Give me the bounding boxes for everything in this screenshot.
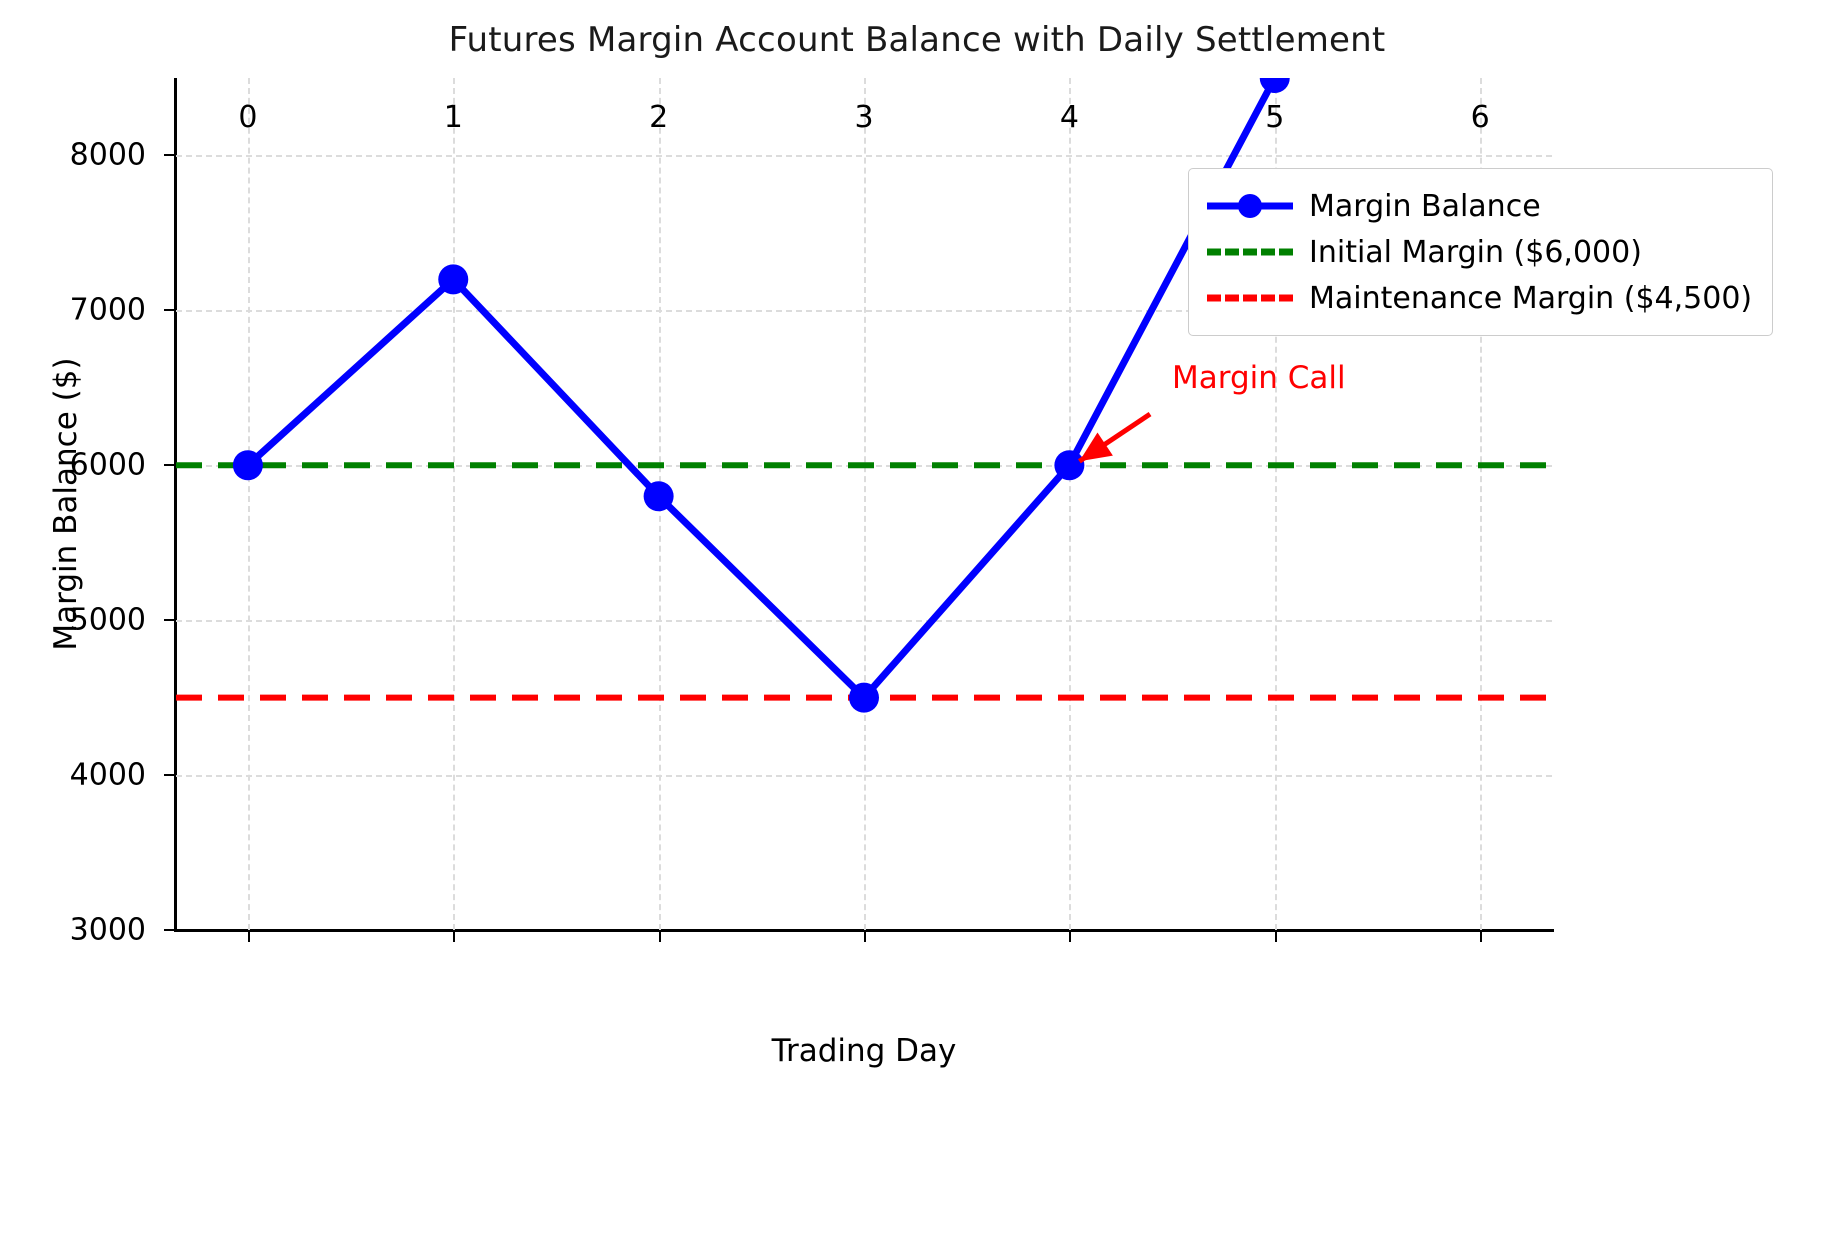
- y-tick-label: 4000: [70, 758, 146, 793]
- y-tick-mark: [164, 929, 176, 931]
- chart-legend: Margin Balance Initial Margin ($6,000) M…: [1188, 168, 1773, 336]
- legend-key-initial-margin: [1207, 237, 1293, 267]
- x-tick-mark: [1275, 930, 1277, 942]
- y-tick-label: 7000: [70, 293, 146, 328]
- plot-area: 300040005000600070008000 0123456 Margin …: [176, 78, 1552, 930]
- x-tick-mark: [1480, 930, 1482, 942]
- legend-label-margin-balance: Margin Balance: [1309, 189, 1541, 224]
- data-point-marker[interactable]: [438, 264, 468, 294]
- legend-label-initial-margin: Initial Margin ($6,000): [1309, 235, 1642, 270]
- y-tick-mark: [164, 619, 176, 621]
- y-tick-mark: [164, 309, 176, 311]
- chart-title: Futures Margin Account Balance with Dail…: [0, 20, 1834, 60]
- y-tick-mark: [164, 154, 176, 156]
- y-tick-mark: [164, 464, 176, 466]
- data-point-marker[interactable]: [644, 481, 674, 511]
- legend-item-margin-balance[interactable]: Margin Balance: [1207, 183, 1752, 229]
- x-tick-mark: [1069, 930, 1071, 942]
- x-tick-mark: [659, 930, 661, 942]
- series-line-margin-balance: [248, 78, 1275, 698]
- legend-item-maintenance-margin[interactable]: Maintenance Margin ($4,500): [1207, 275, 1752, 321]
- margin-call-annotation: Margin Call: [1172, 360, 1346, 396]
- y-tick-mark: [164, 774, 176, 776]
- data-point-marker[interactable]: [233, 450, 263, 480]
- data-point-marker[interactable]: [1054, 450, 1084, 480]
- data-point-marker[interactable]: [1260, 63, 1290, 93]
- x-tick-mark: [453, 930, 455, 942]
- x-tick-mark: [864, 930, 866, 942]
- chart-figure: Futures Margin Account Balance with Dail…: [0, 0, 1834, 1234]
- legend-item-initial-margin[interactable]: Initial Margin ($6,000): [1207, 229, 1752, 275]
- x-tick-mark: [248, 930, 250, 942]
- legend-key-margin-balance: [1207, 191, 1293, 221]
- legend-key-maintenance-margin: [1207, 283, 1293, 313]
- data-point-marker[interactable]: [849, 683, 879, 713]
- x-axis-label: Trading Day: [772, 1033, 957, 1069]
- y-tick-label: 8000: [70, 138, 146, 173]
- y-axis-label: Margin Balance ($): [48, 357, 84, 650]
- y-tick-label: 3000: [70, 913, 146, 948]
- legend-label-maintenance-margin: Maintenance Margin ($4,500): [1309, 281, 1752, 316]
